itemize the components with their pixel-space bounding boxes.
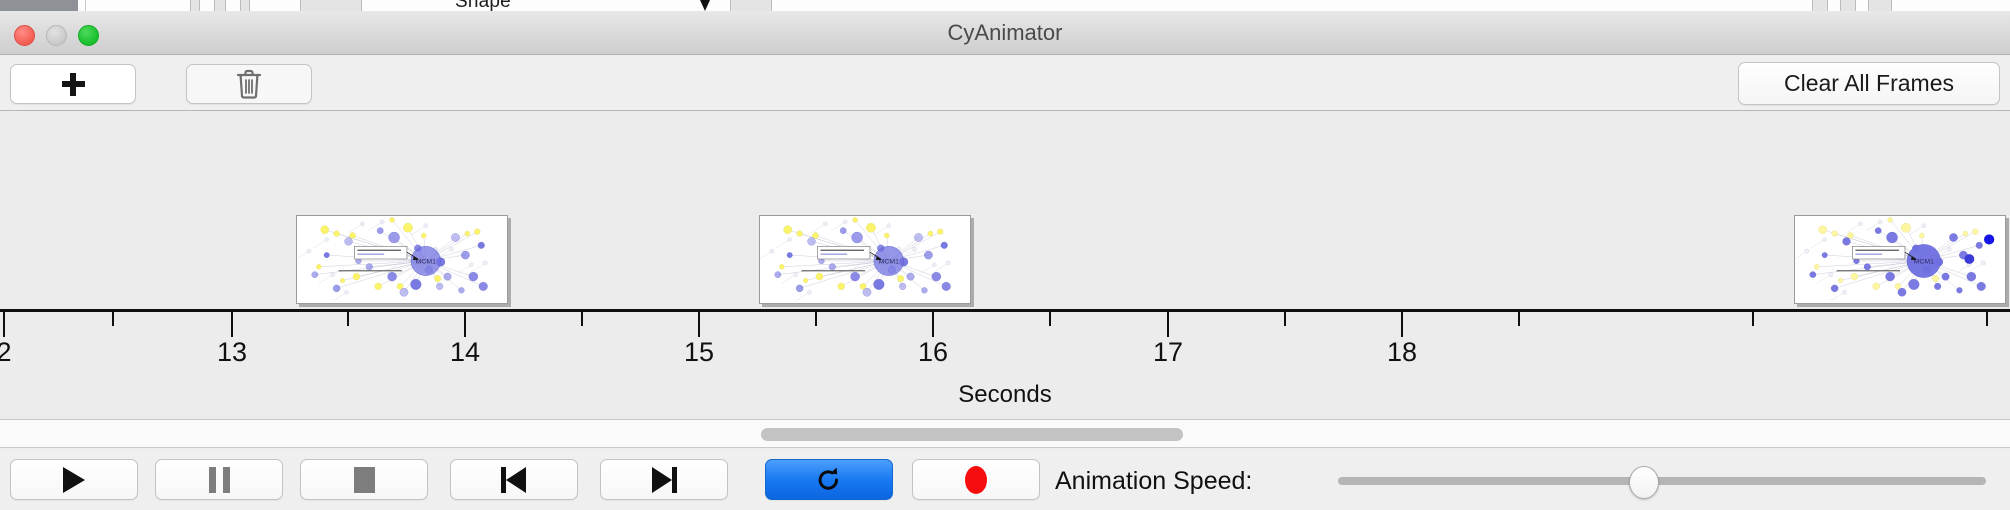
background-block (730, 0, 772, 11)
step-forward-button[interactable] (600, 459, 728, 500)
axis-tick-minor (1986, 312, 1988, 326)
timeline-frame-thumbnail[interactable]: MCM1 (759, 215, 971, 304)
axis-tick-label: 15 (684, 337, 714, 368)
axis-tick-label: 17 (1153, 337, 1183, 368)
background-strip-dark (0, 0, 78, 11)
title-bar: CyAnimator (0, 11, 2010, 55)
animation-speed-slider-thumb[interactable] (1629, 466, 1659, 499)
stop-icon (354, 467, 375, 493)
timeline-scrollbar-thumb[interactable] (761, 428, 1183, 441)
loop-icon (814, 465, 844, 495)
svg-text:MCM1: MCM1 (1914, 259, 1935, 266)
timeline-frame-thumbnail[interactable]: MCM1 (1794, 215, 2006, 304)
window-title: CyAnimator (0, 11, 2010, 55)
axis-tick-label: 16 (918, 337, 948, 368)
axis-tick-major (231, 312, 233, 337)
axis-tick-major (698, 312, 700, 337)
axis-tick-label: 2 (0, 337, 12, 368)
background-block (1840, 0, 1856, 11)
next-icon (651, 467, 677, 493)
record-icon (965, 466, 987, 494)
record-button[interactable] (912, 459, 1040, 500)
background-arrow-icon (700, 0, 710, 11)
axis-tick-label: 18 (1387, 337, 1417, 368)
axis-tick-major (932, 312, 934, 337)
axis-tick-label: 14 (450, 337, 480, 368)
loop-button[interactable] (765, 459, 893, 500)
delete-frame-button[interactable] (186, 64, 312, 104)
network-thumbnail-graphic: MCM1 (1795, 216, 2005, 303)
timeline-frame-thumbnail[interactable]: MCM1 (296, 215, 508, 304)
network-thumbnail-graphic: MCM1 (760, 216, 970, 303)
animation-speed-label: Animation Speed: (1055, 467, 1252, 496)
step-back-button[interactable] (450, 459, 578, 500)
clear-all-frames-label: Clear All Frames (1784, 70, 1954, 97)
background-block (190, 0, 200, 11)
pause-button[interactable] (155, 459, 283, 500)
trash-icon (236, 69, 262, 99)
axis-tick-minor (1518, 312, 1520, 326)
background-block (1812, 0, 1828, 11)
svg-text:MCM1: MCM1 (879, 259, 900, 266)
axis-tick-minor (815, 312, 817, 326)
plus-icon (62, 73, 85, 96)
axis-tick-major (464, 312, 466, 337)
clear-all-frames-button[interactable]: Clear All Frames (1738, 62, 2000, 105)
pause-icon (209, 467, 230, 493)
background-block (240, 0, 250, 11)
play-button[interactable] (10, 459, 138, 500)
timeline-scrollbar-track[interactable] (0, 420, 2010, 448)
svg-text:MCM1: MCM1 (416, 259, 437, 266)
timeline-axis-title: Seconds (0, 381, 2010, 409)
axis-tick-minor (581, 312, 583, 326)
timeline-panel[interactable]: MCM1MCM1MCM1 2131415161718 Seconds (0, 111, 2010, 420)
frames-toolbar: Clear All Frames (0, 55, 2010, 111)
timeline-axis-line (0, 309, 2010, 312)
axis-tick-minor (1284, 312, 1286, 326)
cyanimator-window: Shape CyAnimator Clear All Frame (0, 0, 2010, 510)
background-block (300, 0, 362, 11)
axis-tick-minor (347, 312, 349, 326)
axis-tick-major (3, 312, 5, 337)
axis-tick-minor (1049, 312, 1051, 326)
background-block (1868, 0, 1892, 11)
transport-bar: Animation Speed: (0, 449, 2010, 510)
animation-speed-slider-track[interactable] (1338, 477, 1986, 485)
background-divider (85, 0, 86, 11)
play-icon (63, 467, 85, 493)
axis-tick-major (1167, 312, 1169, 337)
add-frame-button[interactable] (10, 64, 136, 104)
axis-tick-minor (1752, 312, 1754, 326)
stop-button[interactable] (300, 459, 428, 500)
axis-tick-minor (112, 312, 114, 326)
network-thumbnail-graphic: MCM1 (297, 216, 507, 303)
prev-icon (501, 467, 527, 493)
axis-tick-major (1401, 312, 1403, 337)
axis-tick-label: 13 (217, 337, 247, 368)
background-block (214, 0, 226, 11)
